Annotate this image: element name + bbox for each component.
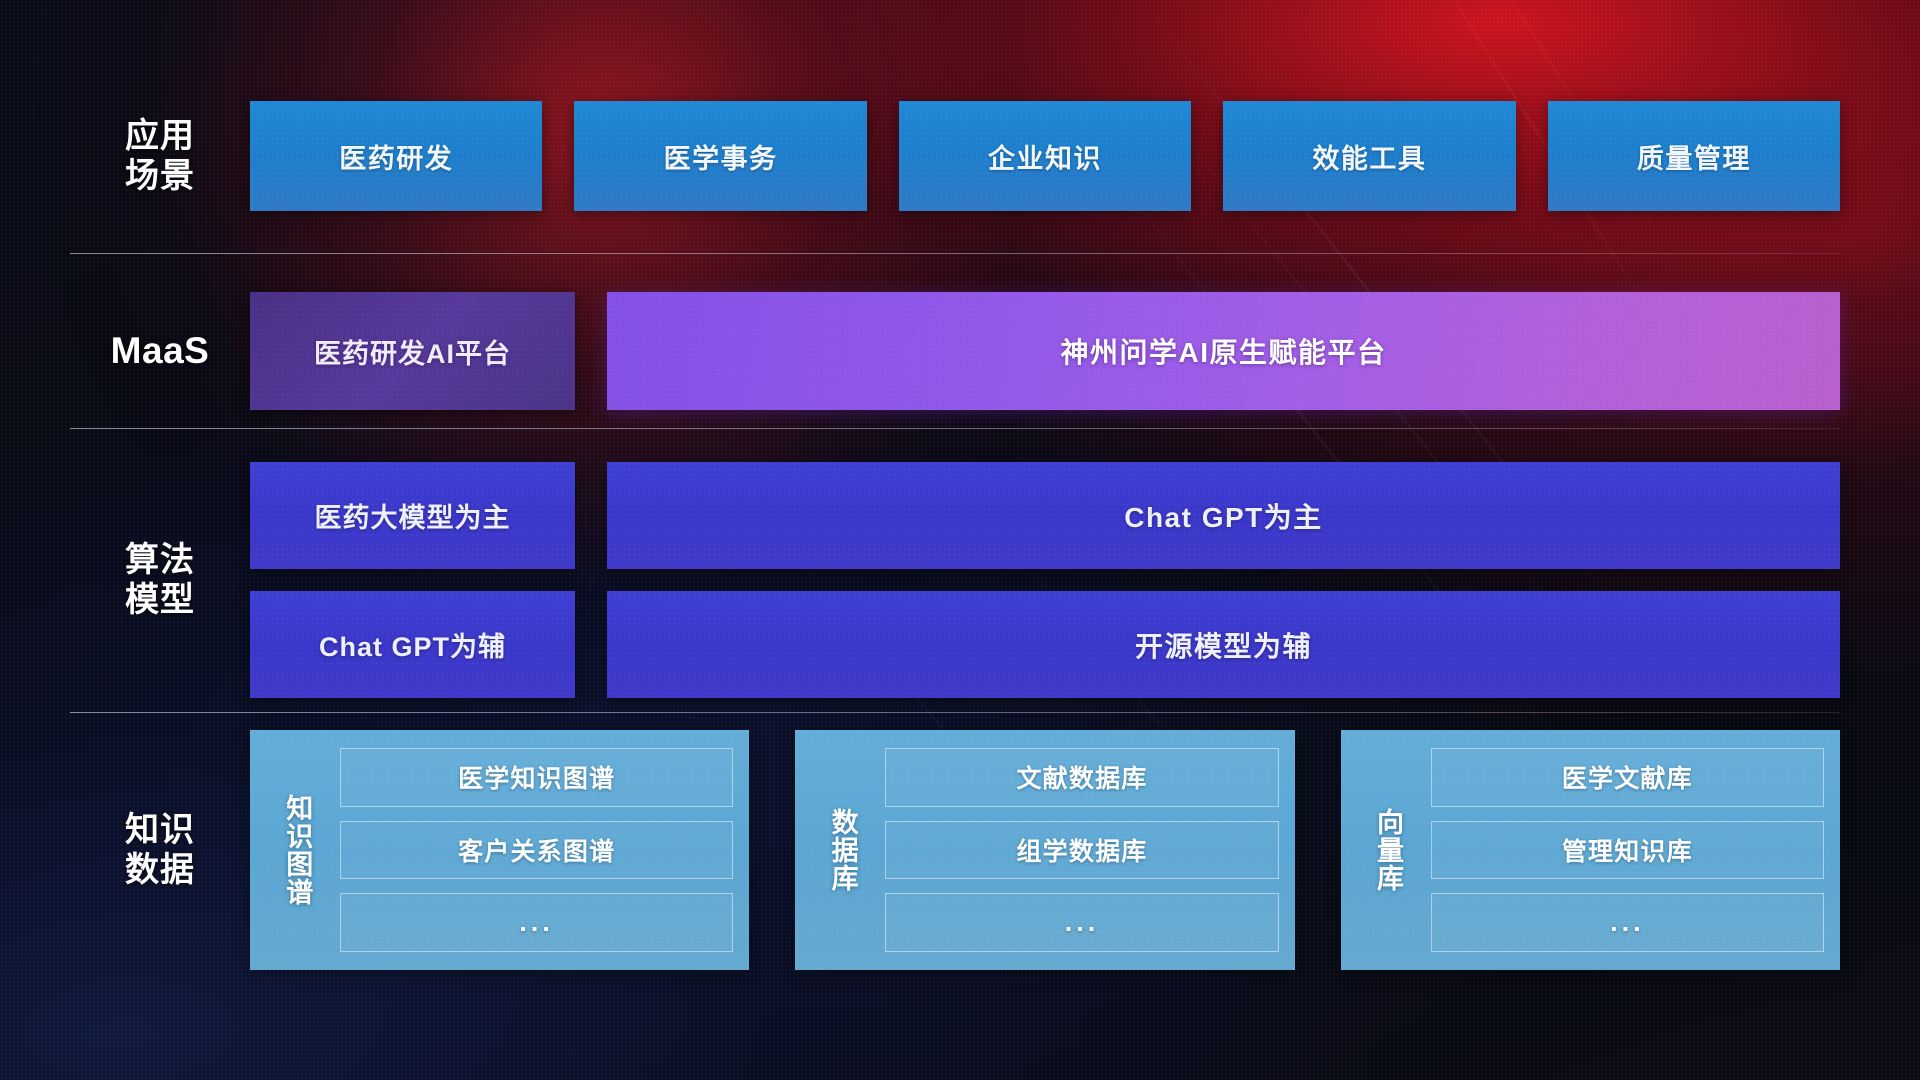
- knowledge-item-omics-database[interactable]: 组学数据库: [885, 821, 1278, 880]
- algo-box-label: 开源模型为辅: [1135, 625, 1312, 665]
- divider-maas-algo: [70, 428, 1840, 429]
- knowledge-panel-items: 医学文献库 管理知识库 ...: [1419, 748, 1824, 952]
- knowledge-item-management-knowledge-store[interactable]: 管理知识库: [1431, 821, 1824, 880]
- row-knowledge-data: 知识 数据 知识图谱 医学知识图谱 客户关系图谱 ... 数据库 文献数据库 组…: [70, 730, 1840, 970]
- row-label-maas: MaaS: [70, 329, 250, 373]
- row-label-application-scenarios: 应用 场景: [70, 116, 250, 196]
- algo-box-label: Chat GPT为辅: [319, 625, 506, 664]
- app-box-label: 医学事务: [664, 137, 778, 176]
- algo-box-chatgpt-primary[interactable]: Chat GPT为主: [607, 462, 1840, 569]
- knowledge-data-panels: 知识图谱 医学知识图谱 客户关系图谱 ... 数据库 文献数据库 组学数据库 .…: [250, 730, 1840, 970]
- divider-algo-knowledge: [70, 712, 1840, 713]
- row-application-scenarios: 应用 场景 医药研发 医学事务 企业知识 效能工具 质量管理: [70, 101, 1840, 211]
- knowledge-panel-knowledge-graph[interactable]: 知识图谱 医学知识图谱 客户关系图谱 ...: [250, 730, 749, 970]
- maas-box-label: 医药研发AI平台: [314, 332, 511, 371]
- row-algorithm-model: 算法 模型 医药大模型为主 Chat GPT为主 Chat GPT为辅 开源模型…: [70, 462, 1840, 698]
- app-box-medical-affairs[interactable]: 医学事务: [574, 101, 866, 211]
- algo-box-label: 医药大模型为主: [315, 496, 511, 535]
- knowledge-item-medical-knowledge-graph[interactable]: 医学知识图谱: [340, 748, 733, 807]
- maas-box-label: 神州问学AI原生赋能平台: [1060, 331, 1386, 371]
- knowledge-panel-title: 数据库: [811, 748, 873, 952]
- row-maas: MaaS 医药研发AI平台 神州问学AI原生赋能平台: [70, 292, 1840, 410]
- knowledge-panel-vector-store[interactable]: 向量库 医学文献库 管理知识库 ...: [1341, 730, 1840, 970]
- app-box-quality-management[interactable]: 质量管理: [1548, 101, 1840, 211]
- app-box-pharma-rnd[interactable]: 医药研发: [250, 101, 542, 211]
- diagram-stage: 应用 场景 医药研发 医学事务 企业知识 效能工具 质量管理 MaaS 医药研发…: [0, 0, 1920, 1080]
- divider-apps-maas: [70, 253, 1840, 254]
- app-box-efficiency-tools[interactable]: 效能工具: [1223, 101, 1515, 211]
- knowledge-item-more[interactable]: ...: [885, 893, 1278, 952]
- knowledge-item-customer-relation-graph[interactable]: 客户关系图谱: [340, 821, 733, 880]
- knowledge-item-more[interactable]: ...: [1431, 893, 1824, 952]
- algo-box-label: Chat GPT为主: [1124, 496, 1323, 536]
- row-label-algorithm-model: 算法 模型: [70, 462, 250, 698]
- knowledge-item-literature-database[interactable]: 文献数据库: [885, 748, 1278, 807]
- algo-box-chatgpt-secondary[interactable]: Chat GPT为辅: [250, 591, 575, 698]
- knowledge-panel-database[interactable]: 数据库 文献数据库 组学数据库 ...: [795, 730, 1294, 970]
- knowledge-panel-items: 文献数据库 组学数据库 ...: [873, 748, 1278, 952]
- app-box-label: 医药研发: [339, 137, 453, 176]
- application-scenario-boxes: 医药研发 医学事务 企业知识 效能工具 质量管理: [250, 101, 1840, 211]
- knowledge-item-more[interactable]: ...: [340, 893, 733, 952]
- algo-box-opensource-secondary[interactable]: 开源模型为辅: [607, 591, 1840, 698]
- knowledge-panel-title: 知识图谱: [266, 748, 328, 952]
- knowledge-item-medical-literature-store[interactable]: 医学文献库: [1431, 748, 1824, 807]
- knowledge-panel-title: 向量库: [1357, 748, 1419, 952]
- maas-box-shenzhou-wenxue-platform[interactable]: 神州问学AI原生赋能平台: [607, 292, 1840, 410]
- algo-line-secondary: Chat GPT为辅 开源模型为辅: [250, 591, 1840, 698]
- knowledge-panel-items: 医学知识图谱 客户关系图谱 ...: [328, 748, 733, 952]
- app-box-label: 效能工具: [1312, 137, 1426, 176]
- maas-boxes: 医药研发AI平台 神州问学AI原生赋能平台: [250, 292, 1840, 410]
- app-box-enterprise-knowledge[interactable]: 企业知识: [899, 101, 1191, 211]
- algo-box-pharma-llm-primary[interactable]: 医药大模型为主: [250, 462, 575, 569]
- app-box-label: 质量管理: [1637, 137, 1751, 176]
- algorithm-model-boxes: 医药大模型为主 Chat GPT为主 Chat GPT为辅 开源模型为辅: [250, 462, 1840, 698]
- algo-line-primary: 医药大模型为主 Chat GPT为主: [250, 462, 1840, 569]
- app-box-label: 企业知识: [988, 137, 1102, 176]
- maas-box-pharma-ai-platform[interactable]: 医药研发AI平台: [250, 292, 575, 410]
- row-label-knowledge-data: 知识 数据: [70, 730, 250, 970]
